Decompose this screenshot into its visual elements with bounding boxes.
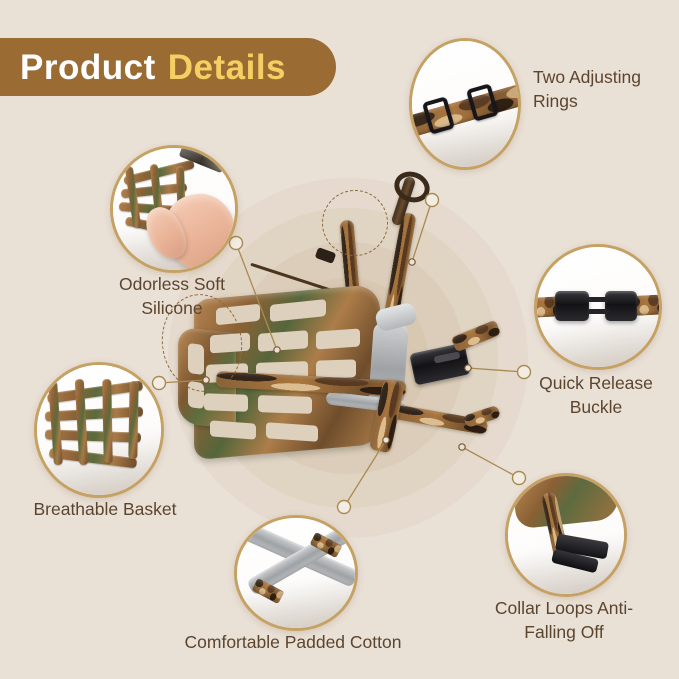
breathable-basket-lattice <box>45 381 155 481</box>
callout-image-two-adjusting-rings <box>409 38 521 170</box>
page-title-banner: ProductDetails <box>0 38 336 96</box>
photo-odorless-soft-silicone <box>113 148 235 270</box>
photo-comfortable-padded-cotton <box>237 518 355 628</box>
basket-bar <box>102 379 112 463</box>
callout-image-comfortable-padded-cotton <box>234 515 358 631</box>
buckle-female-housing <box>555 291 589 321</box>
callout-image-breathable-basket <box>34 362 164 498</box>
connector-node-comfortable-padded-cotton <box>338 501 351 514</box>
photo-quick-release-buckle <box>537 247 659 367</box>
callout-image-quick-release-buckle <box>534 244 662 370</box>
callout-label-odorless-soft-silicone: Odorless Soft Silicone <box>92 273 252 320</box>
basket-hole <box>316 328 360 349</box>
basket-hole <box>204 393 248 412</box>
infographic-canvas: ProductDetails Two Adjusting Rings <box>0 0 679 679</box>
product-cord-lock <box>315 247 337 264</box>
callout-label-breathable-basket: Breathable Basket <box>20 498 190 522</box>
basket-hole <box>210 420 256 439</box>
page-title-primary: Product <box>20 48 156 87</box>
callout-image-collar-loops <box>505 473 627 597</box>
photo-two-adjusting-rings <box>412 41 518 167</box>
basket-bar <box>128 381 138 459</box>
callout-label-quick-release-buckle: Quick Release Buckle <box>512 372 679 419</box>
buckle-prongs <box>587 309 609 314</box>
basket-hole <box>258 395 312 414</box>
buckle-male-prong-body <box>605 291 637 321</box>
basket-hole <box>258 330 308 351</box>
photo-breathable-basket <box>37 365 161 495</box>
callout-image-odorless-soft-silicone <box>110 145 238 273</box>
callout-label-comfortable-padded-cotton: Comfortable Padded Cotton <box>168 631 418 655</box>
photo-collar-loops <box>508 476 624 594</box>
callout-label-two-adjusting-rings: Two Adjusting Rings <box>533 66 679 113</box>
top-strap-highlight-dashed-circle <box>322 190 388 256</box>
callout-label-collar-loops: Collar Loops Anti-Falling Off <box>473 597 655 644</box>
buckle-prongs <box>587 297 609 302</box>
product-strap-right-of-buckle <box>451 320 501 353</box>
page-title-secondary: Details <box>168 48 286 87</box>
